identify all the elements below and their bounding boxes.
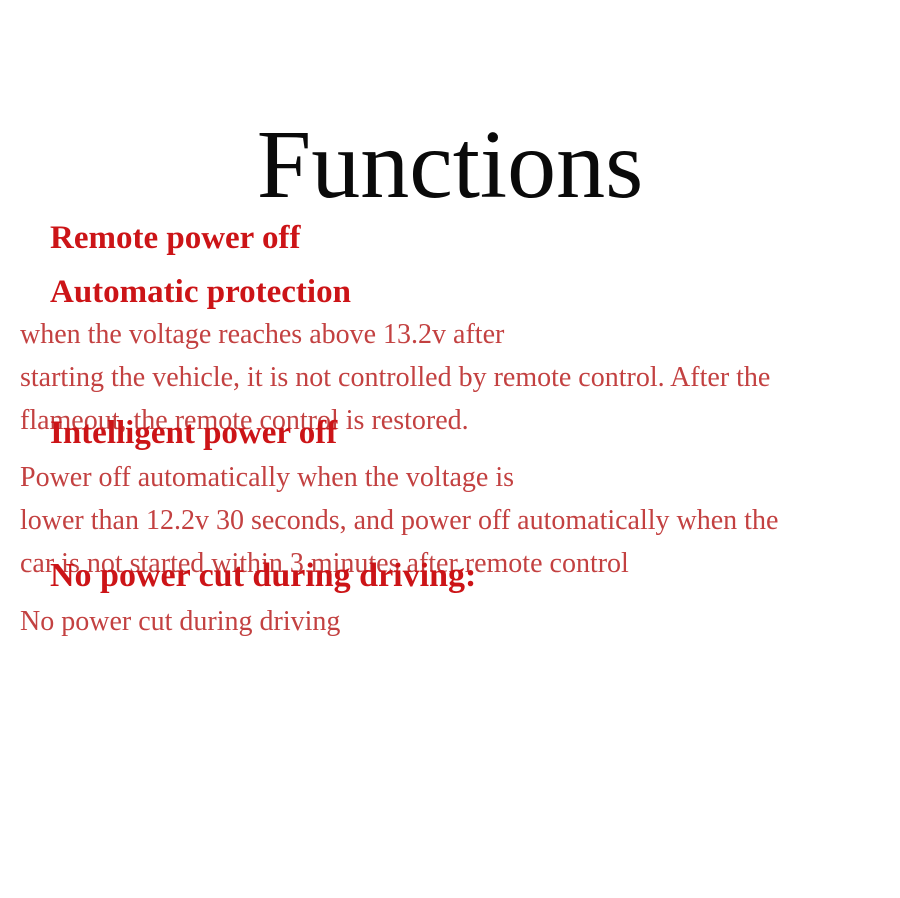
- functions-list: Remote power off Automatic protection wh…: [0, 0, 900, 898]
- document-page: Functions Remote power off Automatic pro…: [0, 0, 900, 898]
- section-heading-automatic-protection: Automatic protection: [50, 273, 351, 311]
- section-heading-remote-power-off: Remote power off: [50, 219, 300, 257]
- section-heading-intelligent-power-off: Intelligent power off: [50, 414, 337, 452]
- section-body-no-power-cut-during-driving: No power cut during driving: [20, 600, 900, 643]
- section-heading-no-power-cut-during-driving: No power cut during driving:: [50, 557, 476, 595]
